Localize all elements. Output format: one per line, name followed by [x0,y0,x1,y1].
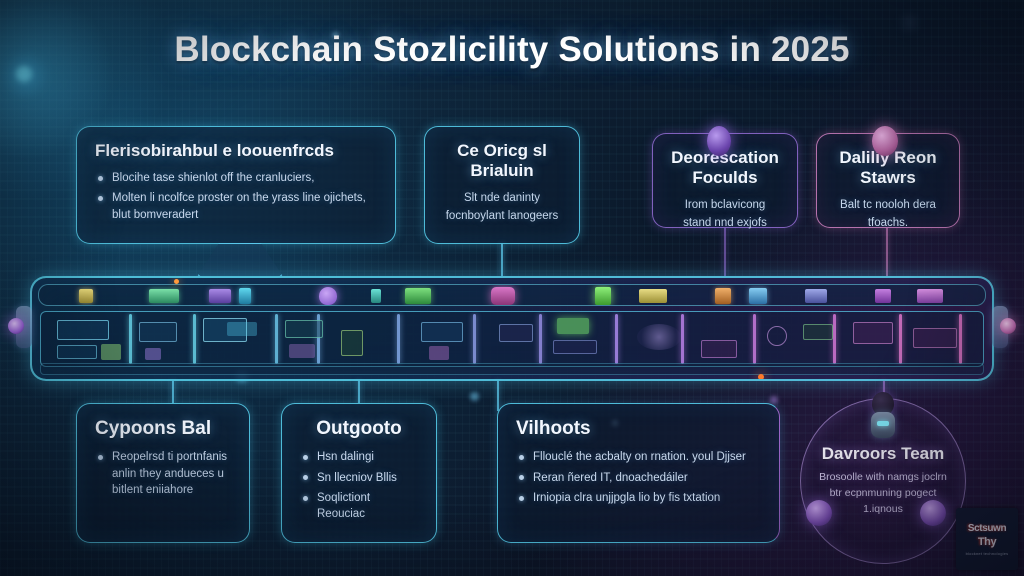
rack-screen-icon [285,320,323,338]
connector-line [886,228,888,276]
rack-bottom-rail [40,363,984,375]
list-item: Irniopia clra unjjpgla lio by fis txtati… [516,490,761,506]
rack-chip-icon [239,288,251,304]
rack-chip-icon [637,324,681,350]
rack-chip-icon [101,344,121,360]
rack-chip-icon [289,344,315,358]
card-bullet-list: Hsn dalingi Sn llecniov Bllis Soqliction… [300,449,418,522]
page-title: Blockchain Stozlicility Solutions in 202… [0,30,1024,70]
list-item: Blocihe tase shienlot off the cranlucier… [95,170,377,186]
rack-chip-icon [429,346,449,360]
rack-screen-icon [57,345,97,359]
rack-chip-icon [749,288,767,304]
list-item: Hsn dalingi [300,449,418,465]
rack-chip-icon [209,289,231,303]
rack-chip-icon [715,288,731,304]
card-heading: Deorescation Foculds [671,148,779,188]
infographic-canvas: Blockchain Stozlicility Solutions in 202… [0,0,1024,576]
blockchain-server-rack-illustration [30,276,994,381]
card-heading: Flerisobirahbul e loouenfrcds [95,141,377,161]
rack-chip-icon [917,289,943,303]
rack-divider [539,314,542,364]
card-bullet-list: Fllouclé the acbalty on rnation. youl Dj… [516,449,761,506]
rack-screen-icon [499,324,533,342]
watermark-line-2: Thy [978,536,996,548]
connector-line [497,381,499,411]
rack-node-icon [491,287,515,305]
node-orb-icon [707,126,731,156]
rack-screen-icon [227,322,257,336]
rack-divider [397,314,400,364]
rack-chip-icon [595,287,611,305]
rack-chip-icon [767,326,787,346]
rack-chip-icon [875,289,891,303]
connector-line [501,244,503,276]
rack-screen-icon [701,340,737,358]
rack-server-slots [40,311,984,367]
rack-divider [899,314,902,364]
watermark-logo: Sctsuwn Thy blocknet technologies [956,508,1018,570]
glow-orb-icon [1000,318,1016,334]
robot-eye-icon [877,421,889,426]
rack-chip-icon [639,289,667,303]
connector-line [172,381,174,403]
rack-chip-icon [405,288,431,304]
rack-divider [615,314,618,364]
card-heading: Ce Oricg sl Brialuin [443,141,561,181]
rack-divider [275,314,278,364]
list-item: Reopelrsd ti portnfanis anlin they andue… [95,449,231,498]
node-orb-icon [806,500,832,526]
card-bullet-list: Reopelrsd ti portnfanis anlin they andue… [95,449,231,498]
card-heading: Outgooto [300,418,418,440]
rack-chip-icon [149,289,179,303]
rack-node-icon [319,287,337,305]
card-heading: Davroors Team [822,444,945,464]
card-heading: Cypoons Bal [95,418,231,440]
rack-chip-icon [371,289,381,303]
rack-divider [753,314,756,364]
rack-screen-icon [803,324,833,340]
list-item: Sn llecniov Bllis [300,470,418,486]
rack-screen-icon [853,322,893,344]
glow-orb-icon [8,318,24,334]
watermark-line-3: blocknet technologies [966,551,1009,556]
node-orb-icon [920,500,946,526]
card-vilhoots[interactable]: Vilhoots Fllouclé the acbalty on rnation… [497,403,780,543]
watermark-line-1: Sctsuwn [968,523,1006,534]
status-led [174,279,179,284]
card-bullet-list: Blocihe tase shienlot off the cranlucier… [95,170,377,223]
card-interoperability[interactable]: Flerisobirahbul e loouenfrcds Blocihe ta… [76,126,396,244]
rack-chip-icon [79,289,93,303]
rack-chip-icon [341,330,363,356]
card-heading: Vilhoots [516,418,761,440]
list-item: Reran ñered IT, dnoachedáiler [516,470,761,486]
connector-line [358,381,360,403]
rack-screen-icon [913,328,957,348]
rack-divider [833,314,836,364]
list-item: Soqlictiont Reouciac [300,490,418,523]
rack-screen-icon [421,322,463,342]
rack-chip-icon [805,289,827,303]
rack-chip-icon [145,348,161,360]
rack-top-rail [38,284,986,306]
card-subtext: Balt tc nooloh dera tfoachs. [835,197,941,233]
list-item: Molten li ncolfce proster on the yrass l… [95,190,377,223]
rack-screen-icon [553,340,597,354]
connector-line [724,228,726,276]
rack-screen-icon [557,318,589,334]
rack-divider [193,314,196,364]
rack-divider [129,314,132,364]
rack-screen-icon [57,320,109,340]
rack-divider [959,314,962,364]
rack-divider [473,314,476,364]
card-outgoote[interactable]: Outgooto Hsn dalingi Sn llecniov Bllis S… [281,403,437,543]
list-item: Fllouclé the acbalty on rnation. youl Dj… [516,449,761,465]
node-orb-icon [872,126,898,156]
card-subtext: Slt nde daninty focnboylant lanogeers [443,190,561,226]
card-cypoons-bal[interactable]: Cypoons Bal Reopelrsd ti portnfanis anli… [76,403,250,543]
status-led [758,374,764,380]
rack-screen-icon [139,322,177,342]
rack-divider [681,314,684,364]
card-origin-brialuin[interactable]: Ce Oricg sl Brialuin Slt nde daninty foc… [424,126,580,244]
